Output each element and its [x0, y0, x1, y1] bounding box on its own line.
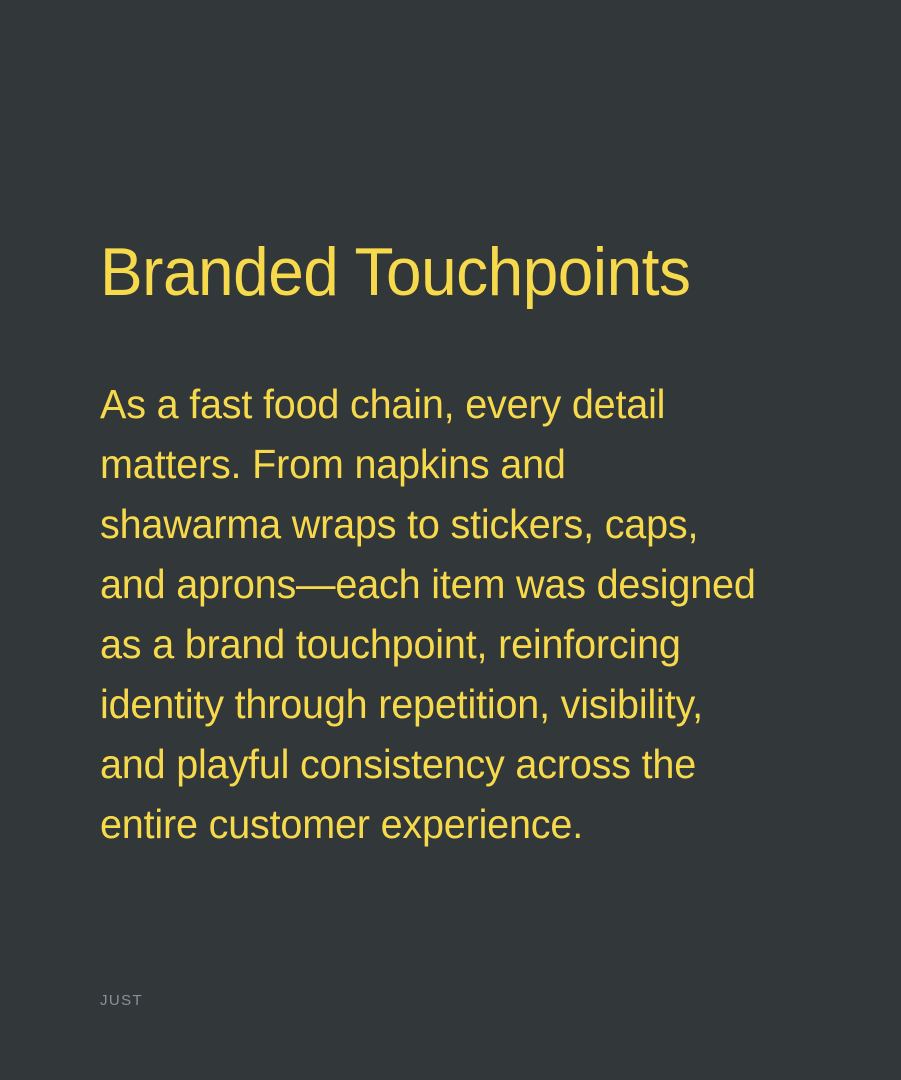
- body-line: matters. From napkins and: [100, 434, 776, 494]
- body-line: As a fast food chain, every detail: [100, 374, 776, 434]
- body-line: and playful consistency across the: [100, 734, 776, 794]
- body-line: entire customer experience.: [100, 794, 776, 854]
- body-line: and aprons—each item was designed: [100, 554, 776, 614]
- body-line: identity through repetition, visibility,: [100, 674, 776, 734]
- body-line: as a brand touchpoint, reinforcing: [100, 614, 776, 674]
- footer-brand-label: JUST: [100, 993, 143, 1008]
- body-paragraph: As a fast food chain, every detail matte…: [100, 374, 776, 854]
- page-title: Branded Touchpoints: [100, 238, 796, 306]
- body-line: shawarma wraps to stickers, caps,: [100, 494, 776, 554]
- slide-canvas: Branded Touchpoints As a fast food chain…: [0, 0, 901, 1080]
